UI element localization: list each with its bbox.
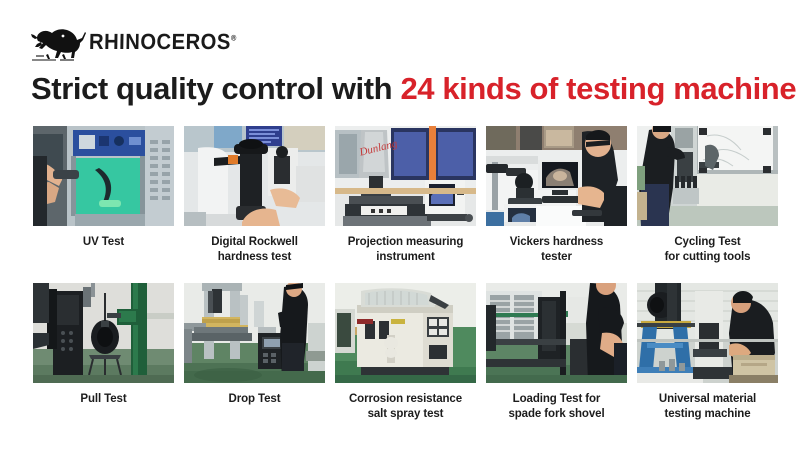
caption: Corrosion resistancesalt spray test — [335, 392, 476, 421]
photo-uv-test — [33, 126, 174, 226]
caption: Projection measuringinstrument — [335, 235, 476, 264]
brand-logo: RHINOCEROS® — [30, 20, 250, 64]
slide-page: RHINOCEROS® Strict quality control with … — [0, 0, 800, 449]
caption: Pull Test — [33, 392, 174, 407]
grid-row: Pull Test — [33, 283, 769, 421]
rhinoceros-icon — [30, 21, 88, 63]
caption: Cycling Testfor cutting tools — [637, 235, 778, 264]
photo-corrosion-resistance-salt-spray-test — [335, 283, 476, 383]
grid-cell[interactable]: Universal materialtesting machine — [637, 283, 778, 421]
photo-drop-test — [184, 283, 325, 383]
caption: Digital Rockwellhardness test — [184, 235, 325, 264]
grid-cell[interactable]: Pull Test — [33, 283, 174, 421]
photo-projection-measuring-instrument: Dunlang — [335, 126, 476, 226]
page-title-lead: Strict quality control with — [31, 71, 400, 106]
caption: Drop Test — [184, 392, 325, 407]
page-title-accent: 24 kinds of testing machine — [400, 71, 796, 106]
photo-vickers-hardness-tester — [486, 126, 627, 226]
photo-pull-test — [33, 283, 174, 383]
registered-mark: ® — [231, 34, 237, 43]
grid-cell[interactable]: UV Test — [33, 126, 174, 264]
grid-cell[interactable]: Loading Test forspade fork shovel — [486, 283, 627, 421]
grid-cell[interactable]: Dunlang — [335, 126, 476, 264]
grid-row: UV Test — [33, 126, 769, 264]
photo-cycling-test-for-cutting-tools — [637, 126, 778, 226]
photo-loading-test-for-spade-fork-shovel — [486, 283, 627, 383]
photo-universal-material-testing-machine — [637, 283, 778, 383]
page-title: Strict quality control with 24 kinds of … — [31, 70, 796, 107]
testing-machine-grid: UV Test — [33, 126, 769, 422]
brand-name: RHINOCEROS — [89, 29, 231, 54]
grid-cell[interactable]: Drop Test — [184, 283, 325, 421]
caption: Loading Test forspade fork shovel — [486, 392, 627, 421]
caption: Universal materialtesting machine — [637, 392, 778, 421]
brand-wordmark: RHINOCEROS® — [89, 29, 237, 55]
caption: UV Test — [33, 235, 174, 250]
grid-cell[interactable]: Digital Rockwellhardness test — [184, 126, 325, 264]
caption: Vickers hardnesstester — [486, 235, 627, 264]
photo-digital-rockwell-hardness-test — [184, 126, 325, 226]
grid-cell[interactable]: Corrosion resistancesalt spray test — [335, 283, 476, 421]
grid-cell[interactable]: Vickers hardnesstester — [486, 126, 627, 264]
grid-cell[interactable]: Cycling Testfor cutting tools — [637, 126, 778, 264]
